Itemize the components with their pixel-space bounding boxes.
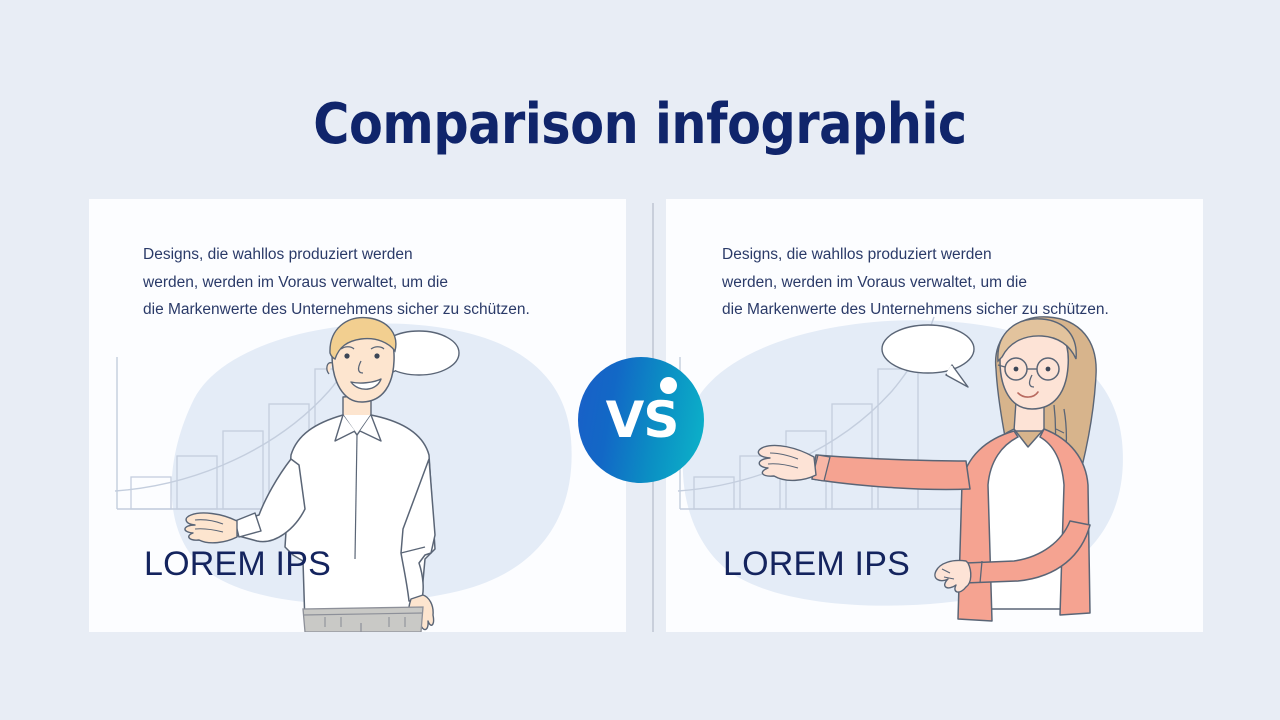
slide-canvas: Comparison infographic <box>0 0 1280 720</box>
panel-body-text: Designs, die wahllos produziert werden w… <box>143 241 613 324</box>
panel-label: LOREM IPS <box>144 545 331 584</box>
panel-label: LOREM IPS <box>723 545 910 584</box>
comparison-panel-right[interactable]: Designs, die wahllos produziert werden w… <box>666 199 1203 632</box>
vs-badge[interactable]: VS <box>578 357 704 483</box>
comparison-panel-left[interactable]: Designs, die wahllos produziert werden w… <box>89 199 626 632</box>
page-title: Comparison infographic <box>77 96 1203 155</box>
chart-bar <box>131 477 171 509</box>
vs-badge-label: VS <box>578 357 704 483</box>
vs-badge-dot <box>660 377 677 394</box>
panel-body-text: Designs, die wahllos produziert werden w… <box>722 241 1192 324</box>
hand-open <box>185 513 237 543</box>
